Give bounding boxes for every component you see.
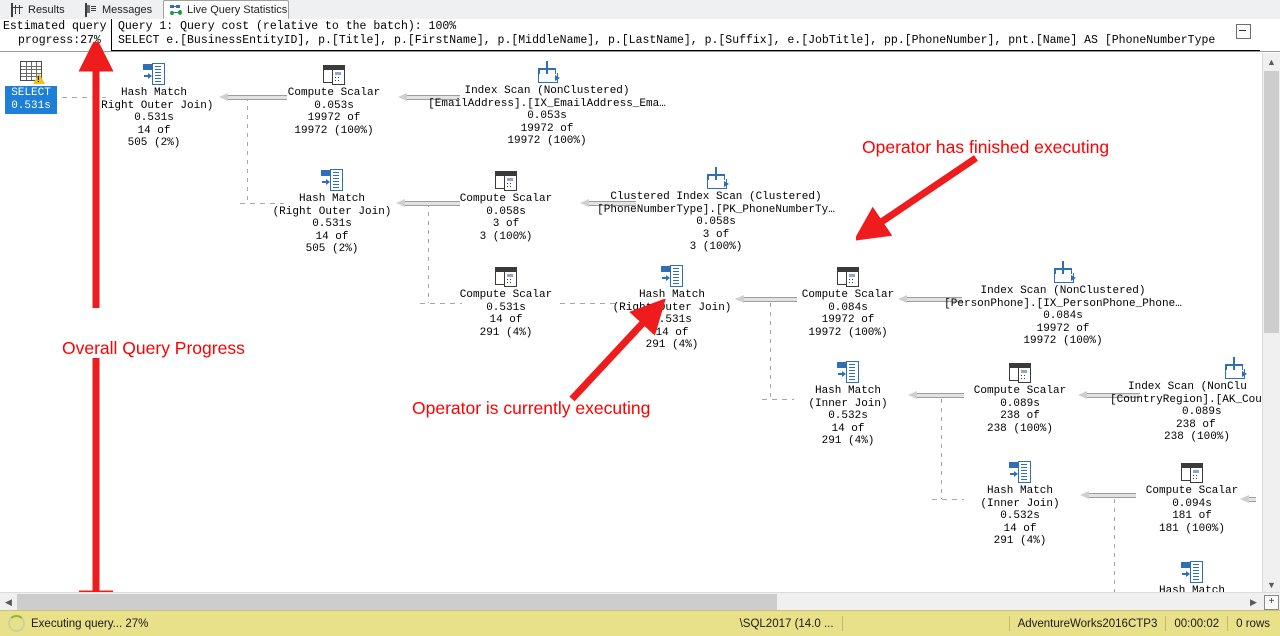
scroll-up-icon[interactable]: ▲ [1263,53,1280,70]
index-scan-icon [535,61,559,83]
node-rows: 19972 of [786,314,910,327]
node-subtitle: [PhoneNumberType].[PK_PhoneNumberTy… [596,204,836,217]
connector-arrow [908,391,964,400]
node-rows: 181 of [1130,510,1254,523]
select-cost: 0.531s [11,100,51,112]
node-total: 238 (100%) [958,423,1082,436]
estimated-progress-line1: Estimated query [3,20,107,33]
node-index-scan-countryregion[interactable]: Index Scan (NonClu [CountryRegion].[AK_C… [1110,357,1262,444]
plan-header: Estimated query progress:27% Query 1: Qu… [0,19,1280,51]
compute-scalar-icon [495,169,517,191]
connector-dashed [770,303,771,399]
node-rows: 14 of [958,523,1082,536]
status-executing-text: Executing query... 27% [31,618,148,630]
node-total: 291 (4%) [786,435,910,448]
executing-spinner-icon [8,615,25,632]
node-subtitle: (Inner Join) [958,498,1082,511]
node-compute-scalar-6[interactable]: Compute Scalar 0.094s 181 of 181 (100%) [1130,461,1254,535]
node-rows: 238 of [958,410,1082,423]
zoom-plus-icon[interactable]: + [1264,595,1279,610]
node-subtitle: [PersonPhone].[IX_PersonPhone_Phone… [940,298,1186,311]
hash-match-icon [321,169,343,191]
annotation-arrow-executing [556,299,676,409]
node-time: 0.084s [786,302,910,315]
node-rows: 19972 of [940,323,1186,336]
node-total: 19972 (100%) [786,327,910,340]
node-hash-match-6[interactable]: Hash Match [1130,561,1254,593]
node-hash-match-4[interactable]: Hash Match (Inner Join) 0.532s 14 of 291… [786,361,910,448]
scroll-down-icon[interactable]: ▼ [1263,576,1280,593]
clustered-index-scan-icon [704,167,728,189]
connector-dashed [428,203,429,303]
status-database: AdventureWorks2016CTP3 [1018,618,1158,630]
status-server: \SQL2017 (14.0 ... [740,618,834,630]
hash-match-icon [661,265,683,287]
node-title: Index Scan (NonClu [1110,381,1262,394]
node-total: 505 (2%) [270,243,394,256]
node-time: 0.058s [596,216,836,229]
hash-match-icon [1181,561,1203,583]
scroll-left-icon[interactable]: ◀ [0,593,17,611]
node-time: 0.089s [958,398,1082,411]
node-time: 0.053s [272,100,396,113]
node-compute-scalar-5[interactable]: Compute Scalar 0.089s 238 of 238 (100%) [958,361,1082,435]
node-time: 0.053s [422,110,672,123]
node-time: 0.089s [1110,406,1262,419]
node-rows: 14 of [444,314,568,327]
status-elapsed: 00:00:02 [1174,618,1219,630]
node-time: 0.531s [270,218,394,231]
compute-scalar-icon [323,63,345,85]
tab-results-label: Results [28,4,65,16]
annotation-arrow-finished [856,153,986,243]
node-hash-match-5[interactable]: Hash Match (Inner Join) 0.532s 14 of 291… [958,461,1082,548]
node-hash-match-2[interactable]: Hash Match (Right Outer Join) 0.531s 14 … [270,169,394,256]
node-total: 19972 (100%) [272,125,396,138]
vertical-scrollbar-thumb[interactable] [1264,71,1279,333]
node-clustered-index-scan-phonenumbertype[interactable]: Clustered Index Scan (Clustered) [PhoneN… [596,167,836,254]
node-compute-scalar-2[interactable]: Compute Scalar 0.058s 3 of 3 (100%) [444,169,568,243]
execution-plan-canvas[interactable]: SELECT 0.531s Hash Match (Right Outer Jo… [0,53,1262,593]
node-total: 181 (100%) [1130,523,1254,536]
node-total: 19972 (100%) [422,135,672,148]
node-total: 19972 (100%) [940,335,1186,348]
node-rows: 19972 of [272,112,396,125]
hash-match-icon [837,361,859,383]
node-rows: 3 of [444,218,568,231]
annotation-overall-progress: Overall Query Progress [62,338,245,359]
node-time: 0.531s [444,302,568,315]
live-query-statistics-window: Results Messages Live Query Statistics E… [0,0,1280,636]
status-rows: 0 rows [1236,618,1270,630]
query-header-panel: Query 1: Query cost (relative to the bat… [112,19,1260,51]
node-total: 291 (4%) [444,327,568,340]
node-select[interactable]: SELECT 0.531s [3,61,59,114]
query-sql-text: SELECT e.[BusinessEntityID], p.[Title], … [118,34,1215,47]
node-subtitle: (Right Outer Join) [270,206,394,219]
connector-arrow [1080,491,1136,500]
annotation-arrow-progress-up [78,42,120,314]
warning-icon [33,73,45,84]
tab-live-query-statistics[interactable]: Live Query Statistics [163,0,289,19]
node-subtitle: [CountryRegion].[AK_Cou [1110,394,1262,407]
node-time: 0.084s [940,310,1186,323]
select-label: SELECT [11,87,51,99]
node-time: 0.094s [1130,498,1254,511]
node-subtitle: [EmailAddress].[IX_EmailAddress_Ema… [422,98,672,111]
node-compute-scalar-3[interactable]: Compute Scalar 0.531s 14 of 291 (4%) [444,265,568,339]
select-result-icon [18,61,44,85]
node-title: Compute Scalar [958,385,1082,398]
scrollbar-corner: + [1262,593,1280,611]
node-rows: 238 of [1110,419,1262,432]
collapse-icon[interactable] [1236,24,1251,39]
node-total: 3 (100%) [444,231,568,244]
node-index-scan-personphone[interactable]: Index Scan (NonClustered) [PersonPhone].… [940,261,1186,348]
status-right-group: \SQL2017 (14.0 ... AdventureWorks2016CTP… [740,616,1280,631]
index-scan-icon [1051,261,1075,283]
node-title: Compute Scalar [1130,485,1254,498]
horizontal-scrollbar[interactable]: ◀ ▶ + [0,592,1280,611]
node-rows: 14 of [270,231,394,244]
connector-dashed [247,97,248,203]
compute-scalar-icon [1009,361,1031,383]
node-title: Compute Scalar [786,289,910,302]
index-scan-icon [1222,357,1246,379]
tab-live-query-statistics-label: Live Query Statistics [187,4,287,16]
results-tabstrip: Results Messages Live Query Statistics [0,0,1280,20]
node-time: 0.532s [958,510,1082,523]
node-title: Hash Match [270,193,394,206]
vertical-scrollbar[interactable]: ▲ ▼ [1262,53,1280,593]
node-title: Hash Match [958,485,1082,498]
tab-messages-label: Messages [102,4,152,16]
node-title: Index Scan (NonClustered) [940,285,1186,298]
header-divider-2 [0,51,1280,52]
node-title: Hash Match [786,385,910,398]
node-rows: 19972 of [422,123,672,136]
tab-results[interactable]: Results [4,0,76,19]
node-title: Compute Scalar [444,289,568,302]
node-title: Compute Scalar [444,193,568,206]
horizontal-scrollbar-thumb[interactable] [17,594,777,610]
tab-messages[interactable]: Messages [78,0,162,19]
node-total: 238 (100%) [1110,431,1262,444]
messages-icon [85,4,98,16]
node-rows: 14 of [786,423,910,436]
compute-scalar-icon [1181,461,1203,483]
hash-match-icon [1009,461,1031,483]
node-total: 3 (100%) [596,241,836,254]
scroll-right-icon[interactable]: ▶ [1245,593,1262,611]
node-time: 0.532s [786,410,910,423]
node-rows: 3 of [596,229,836,242]
node-title: Index Scan (NonClustered) [422,85,672,98]
hash-match-icon [143,63,165,85]
results-grid-icon [11,4,24,16]
node-subtitle: (Inner Join) [786,398,910,411]
node-title: Compute Scalar [272,87,396,100]
node-compute-scalar-4[interactable]: Compute Scalar 0.084s 19972 of 19972 (10… [786,265,910,339]
query-cost-text: Query 1: Query cost (relative to the bat… [118,20,456,33]
annotation-arrow-progress-down [78,358,120,620]
node-total: 291 (4%) [958,535,1082,548]
node-compute-scalar-1[interactable]: Compute Scalar 0.053s 19972 of 19972 (10… [272,63,396,137]
node-index-scan-emailaddress[interactable]: Index Scan (NonClustered) [EmailAddress]… [422,61,672,148]
live-query-statistics-icon [170,4,183,16]
status-bar: Executing query... 27% \SQL2017 (14.0 ..… [0,610,1280,636]
connector-dashed [941,399,942,499]
connector-dashed [1114,499,1115,593]
node-time: 0.058s [444,206,568,219]
node-title: Clustered Index Scan (Clustered) [596,191,836,204]
select-node-box: SELECT 0.531s [5,86,57,114]
compute-scalar-icon [495,265,517,287]
compute-scalar-icon [837,265,859,287]
